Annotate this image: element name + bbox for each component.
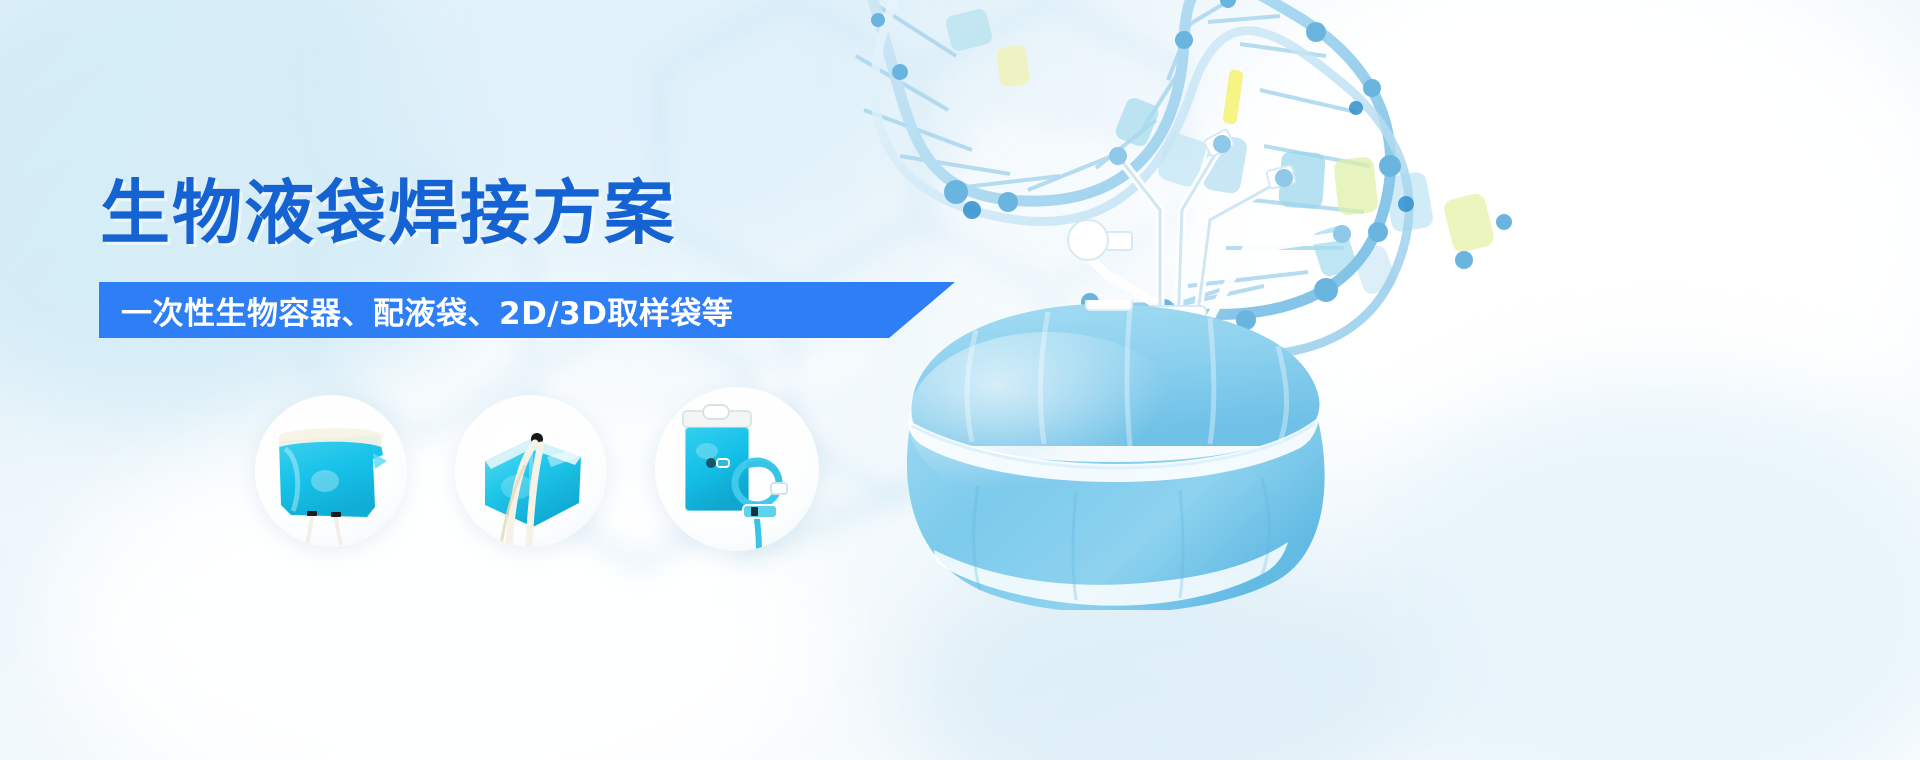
3d-sampling-bag-icon [455,395,607,547]
thumb-3d-sampling-bag[interactable] [455,395,607,547]
subtitle-text: 一次性生物容器、配液袋、2D/3D取样袋等 [121,288,733,333]
subtitle-banner: 一次性生物容器、配液袋、2D/3D取样袋等 [99,282,955,338]
bioprocess-bag-graphic [880,300,1340,610]
product-hero-banner: 生物液袋焊接方案 一次性生物容器、配液袋、2D/3D取样袋等 [0,0,1920,760]
product-thumbnail-group [255,385,875,585]
dna-helix-icon [760,0,1580,520]
sampling-bag-tubing-icon [655,387,819,551]
bg-blob-4 [1180,0,1920,500]
thumb-2d-liquid-bag[interactable] [255,395,407,547]
page-title: 生物液袋焊接方案 [100,178,676,248]
thumb-sampling-bag-tubing[interactable] [655,387,819,551]
bg-blob-5 [1340,380,1920,760]
background-layer [0,0,1920,760]
2d-liquid-bag-icon [255,395,407,547]
bg-blob-6 [900,540,1420,760]
tubing-manifold-icon [1010,60,1430,340]
light-streak-3 [894,113,1266,547]
